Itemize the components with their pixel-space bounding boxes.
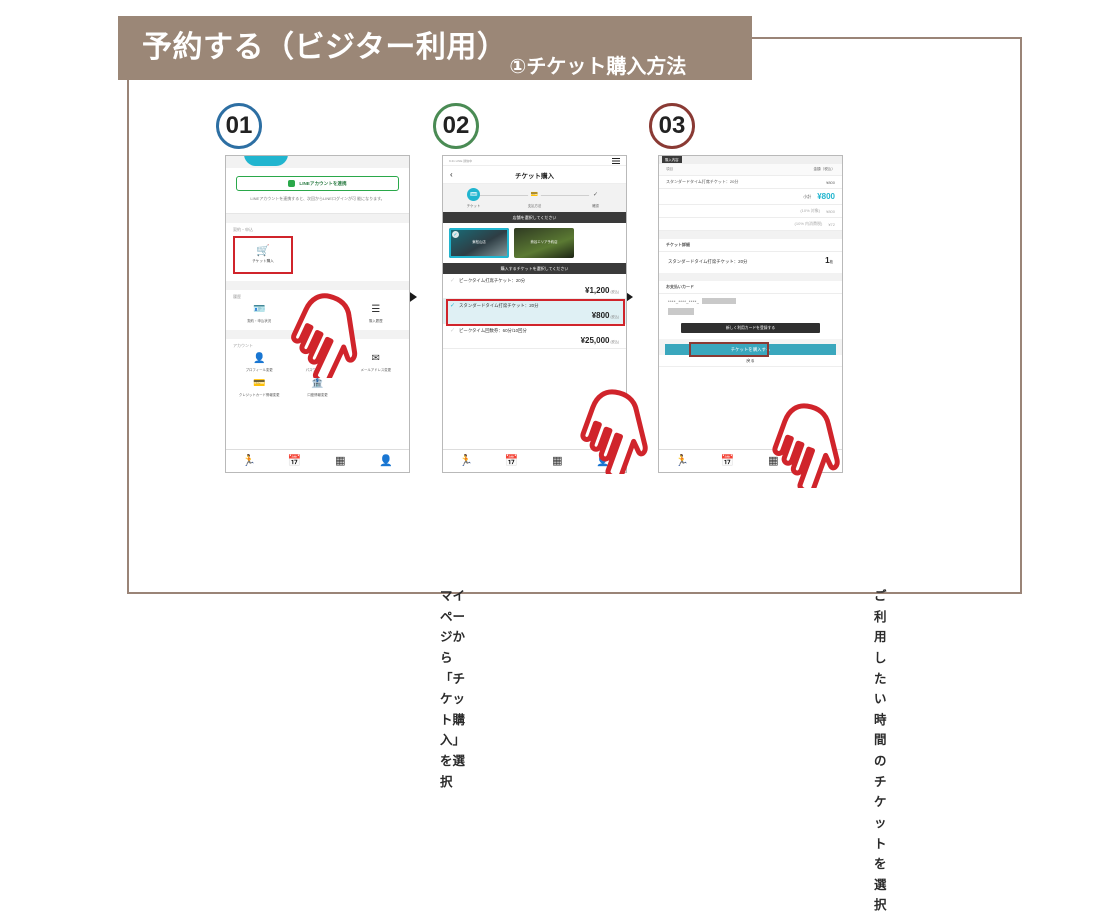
summary-table-header: 項目 金額（税込）	[659, 164, 842, 176]
ticket-purchase-area: 🛒 チケット購入	[226, 235, 409, 281]
menu-label: 保有チケット	[307, 318, 327, 323]
step-badge-03: 03	[649, 103, 695, 149]
profile-spacer	[347, 379, 405, 397]
register-card-button[interactable]: 新しく利用カードを登録する	[681, 323, 820, 333]
phone-screen-02: 9:41 LINE 通信中 ‹ チケット購入 🎟 チケット 💳 支払方法	[442, 155, 627, 473]
ticket-row: ✓ ピークタイム打席チケット：20分	[450, 278, 619, 284]
ticket-detail-row: スタンダードタイム打席チケット：20分 1枚	[659, 252, 842, 273]
section-heading-contract: 契約・申込	[226, 223, 409, 235]
card-number-redaction	[702, 298, 736, 304]
stepper-label: 確認	[592, 203, 599, 208]
step-02: 02 9:41 LINE 通信中 ‹ チケット購入 🎟 チケット	[429, 103, 679, 473]
cart-icon: 🛒	[256, 246, 270, 257]
ticket-selected-wrap: ✓ スタンダードタイム打席チケット：20分 ¥800(税込)	[443, 299, 626, 324]
tab-qr-icon[interactable]: ▦	[535, 456, 581, 467]
status-text: 9:41 LINE 通信中	[449, 159, 472, 163]
profile-grid: 👤 プロフィール変更 🔑 パスワード変更 ✉ メールアドレス変更	[226, 351, 409, 379]
tab-golf-icon[interactable]: 🏃	[659, 456, 705, 467]
profile-item-edit-profile[interactable]: 👤 プロフィール変更	[230, 354, 288, 372]
profile-item-credit-card[interactable]: 💳 クレジットカード情報変更	[230, 379, 288, 397]
tab-person-icon[interactable]: 👤	[796, 456, 842, 467]
tab-golf-icon[interactable]: 🏃	[443, 456, 489, 467]
stepper-label: チケット	[467, 203, 481, 208]
highlight-box-buy	[689, 342, 769, 357]
step-caption-01: マイページから「チケット購 入」を選択	[440, 586, 465, 792]
section-heading-menu: 履歴	[226, 290, 409, 302]
menu-label: 購入履歴	[369, 318, 383, 323]
ticket-tax: (税込)	[611, 340, 620, 344]
summary-row-item: スタンダードタイム打席チケット：20分 ¥800	[659, 176, 842, 189]
section-divider-3	[226, 330, 409, 339]
ticket-tax: (税込)	[611, 290, 620, 294]
section-divider-2	[226, 281, 409, 290]
ticket-detail-qty: 1枚	[825, 256, 833, 265]
stepper-step-payment[interactable]: 💳 支払方法	[504, 188, 565, 208]
ticket-detail-heading: チケット詳細	[659, 239, 842, 252]
store-card-selected[interactable]: ✓ 東松山店	[449, 228, 509, 258]
row-value: ¥800	[826, 180, 835, 185]
ticket-row: ✓ ピークタイム回数券：60分/10回分	[450, 328, 619, 334]
bottom-tab-bar: 🏃 📅 ▦ 👤	[659, 449, 842, 472]
header-right: 金額（税込）	[813, 167, 835, 172]
bottom-tab-bar: 🏃 📅 ▦ 👤	[443, 449, 626, 472]
mail-icon: ✉	[372, 354, 380, 364]
card-name-redaction	[668, 308, 694, 315]
row-label: (10% 内消費税)	[795, 221, 823, 227]
row-label: 小計	[803, 194, 811, 200]
credit-card-icon: 💳	[253, 379, 265, 389]
card-number-row: ****_****_****_	[659, 294, 842, 306]
key-icon: 🔑	[311, 354, 323, 364]
row-value: ¥800	[826, 209, 835, 214]
section-divider-1	[226, 214, 409, 223]
menu-icon[interactable]	[612, 158, 620, 164]
menu-item-owned-tickets[interactable]: 🎟 保有チケット	[288, 305, 346, 323]
profile-label: 口座情報変更	[307, 392, 327, 397]
menu-grid: 🪪 契約・申込状況 🎟 保有チケット ☰ 購入履歴	[226, 302, 409, 330]
menu-item-purchase-history[interactable]: ☰ 購入履歴	[347, 305, 405, 323]
line-link-note: LINEアカウントを連携すると、次回からLINEログインが可 能になります。	[236, 196, 399, 203]
step-01: 01 LINEアカウントを連携 LINEアカウントを連携すると、次回からLINE…	[212, 103, 462, 473]
header-accent-shape	[244, 155, 288, 166]
ticket-price: ¥1,200	[585, 286, 609, 295]
ticket-prompt: 購入するチケットを選択してください	[443, 263, 626, 274]
step-caption-02: ご利用したい時間のチケット を選択	[874, 586, 887, 916]
card-masked-number: ****_****_****_	[668, 299, 699, 304]
id-card-icon: 🪪	[253, 305, 265, 315]
check-icon: ✓	[450, 278, 455, 284]
check-icon: ✓	[450, 328, 455, 334]
ticket-name: ピークタイム打席チケット：20分	[459, 278, 525, 284]
purchase-section-header: 購入内容	[659, 156, 842, 164]
stepper-step-ticket[interactable]: 🎟 チケット	[443, 188, 504, 208]
store-name: 熊谷エリア予約店	[514, 239, 574, 244]
ticket-icon: 🎟	[311, 305, 324, 315]
tab-person-icon[interactable]: 👤	[363, 456, 409, 467]
profile-label: プロフィール変更	[246, 367, 273, 372]
row-label: スタンダードタイム打席チケット：20分	[666, 179, 738, 185]
profile-item-change-email[interactable]: ✉ メールアドレス変更	[347, 354, 405, 372]
section-divider	[659, 231, 842, 239]
bank-icon: 🏦	[311, 379, 323, 389]
tab-calendar-icon[interactable]: 📅	[272, 456, 318, 467]
section-heading-profile: アカウント	[226, 339, 409, 351]
line-icon	[288, 180, 295, 187]
ticket-detail-name: スタンダードタイム打席チケット：20分	[668, 259, 747, 265]
card-heading: お支払いカード	[659, 281, 842, 294]
tab-golf-icon[interactable]: 🏃	[226, 456, 272, 467]
line-link-button[interactable]: LINEアカウントを連携	[236, 176, 399, 191]
list-icon: ☰	[371, 305, 380, 315]
nav-bar: ‹ チケット購入	[443, 166, 626, 184]
phone-screen-01: LINEアカウントを連携 LINEアカウントを連携すると、次回からLINEログイ…	[225, 155, 410, 473]
stepper-step-confirm[interactable]: ✓ 確認	[565, 188, 626, 208]
ticket-icon: 🎟	[467, 188, 480, 201]
profile-label: クレジットカード情報変更	[239, 392, 280, 397]
card-icon: 💳	[528, 188, 541, 201]
store-prompt: 店舗を選択してください	[443, 212, 626, 223]
status-bar	[226, 156, 409, 168]
nav-title: チケット購入	[515, 170, 554, 180]
card-name-redaction-wrap	[659, 306, 842, 321]
step-badge-02: 02	[433, 103, 479, 149]
slide-root: 予約する（ビジター利用） ①チケット購入方法 01 LINEアカウントを連携 L…	[0, 0, 1118, 628]
store-card[interactable]: 熊谷エリア予約店	[514, 228, 574, 258]
stepper-label: 支払方法	[528, 203, 542, 208]
bottom-tab-bar: 🏃 📅 ▦ 👤	[226, 449, 409, 472]
row-value: ¥800	[817, 192, 835, 201]
profile-item-change-password[interactable]: 🔑 パスワード変更	[288, 354, 346, 372]
summary-row-tax-target: (10% 対象) ¥800	[659, 205, 842, 218]
ticket-name: ピークタイム回数券：60分/10回分	[459, 328, 527, 334]
tab-qr-icon[interactable]: ▦	[751, 456, 797, 467]
highlight-box-ticket	[446, 299, 625, 326]
check-icon: ✓	[589, 188, 602, 201]
status-bar: 9:41 LINE 通信中	[443, 156, 626, 166]
summary-row-subtotal: 小計 ¥800	[659, 189, 842, 205]
buy-button-area: チケットを購入する	[659, 339, 842, 355]
line-link-card: LINEアカウントを連携 LINEアカウントを連携すると、次回からLINEログイ…	[226, 168, 409, 214]
tab-person-icon[interactable]: 👤	[580, 456, 626, 467]
phone-screen-03: 購入内容 項目 金額（税込） スタンダードタイム打席チケット：20分 ¥800 …	[658, 155, 843, 473]
ticket-purchase-label: チケット購入	[252, 259, 274, 264]
menu-label: 契約・申込状況	[247, 318, 271, 323]
back-icon[interactable]: ‹	[450, 171, 453, 179]
page-subtitle: ①チケット購入方法	[509, 57, 686, 80]
store-name: 東松山店	[449, 239, 509, 244]
ticket-purchase-button[interactable]: 🛒 チケット購入	[233, 236, 293, 274]
tab-calendar-icon[interactable]: 📅	[489, 456, 535, 467]
row-value: ¥72	[828, 222, 835, 227]
ticket-price-row: ¥25,000(税込)	[450, 336, 619, 345]
profile-item-bank[interactable]: 🏦 口座情報変更	[288, 379, 346, 397]
store-list: ✓ 東松山店 熊谷エリア予約店	[443, 223, 626, 263]
line-link-label: LINEアカウントを連携	[299, 181, 346, 187]
title-bar: 予約する（ビジター利用） ①チケット購入方法	[118, 16, 752, 80]
profile-label: メールアドレス変更	[361, 367, 392, 372]
menu-item-contract-status[interactable]: 🪪 契約・申込状況	[230, 305, 288, 323]
step-03: 03 購入内容 項目 金額（税込） スタンダードタイム打席チケット：20分 ¥8…	[645, 103, 895, 473]
buy-ticket-button[interactable]: チケットを購入する	[665, 344, 836, 355]
ticket-price: ¥25,000	[581, 336, 610, 345]
steps-container: 01 LINEアカウントを連携 LINEアカウントを連携すると、次回からLINE…	[0, 0, 1118, 628]
check-icon: ✓	[452, 231, 459, 238]
tab-qr-icon[interactable]: ▦	[318, 456, 364, 467]
page-title: 予約する（ビジター利用）	[142, 33, 507, 63]
summary-row-tax-included: (10% 内消費税) ¥72	[659, 218, 842, 231]
ticket-option-peak-20[interactable]: ✓ ピークタイム打席チケット：20分 ¥1,200(税込)	[443, 274, 626, 299]
section-title: 購入内容	[662, 156, 682, 163]
profile-grid-2: 💳 クレジットカード情報変更 🏦 口座情報変更	[226, 379, 409, 404]
row-label: (10% 対象)	[800, 208, 820, 214]
section-divider	[659, 273, 842, 281]
person-icon: 👤	[253, 354, 265, 364]
profile-label: パスワード変更	[306, 367, 330, 372]
ticket-option-peak-coupon[interactable]: ✓ ピークタイム回数券：60分/10回分 ¥25,000(税込)	[443, 324, 626, 349]
header-left: 項目	[666, 167, 673, 172]
tab-calendar-icon[interactable]: 📅	[705, 456, 751, 467]
progress-stepper: 🎟 チケット 💳 支払方法 ✓ 確認	[443, 184, 626, 212]
ticket-price-row: ¥1,200(税込)	[450, 286, 619, 295]
step-badge-01: 01	[216, 103, 262, 149]
